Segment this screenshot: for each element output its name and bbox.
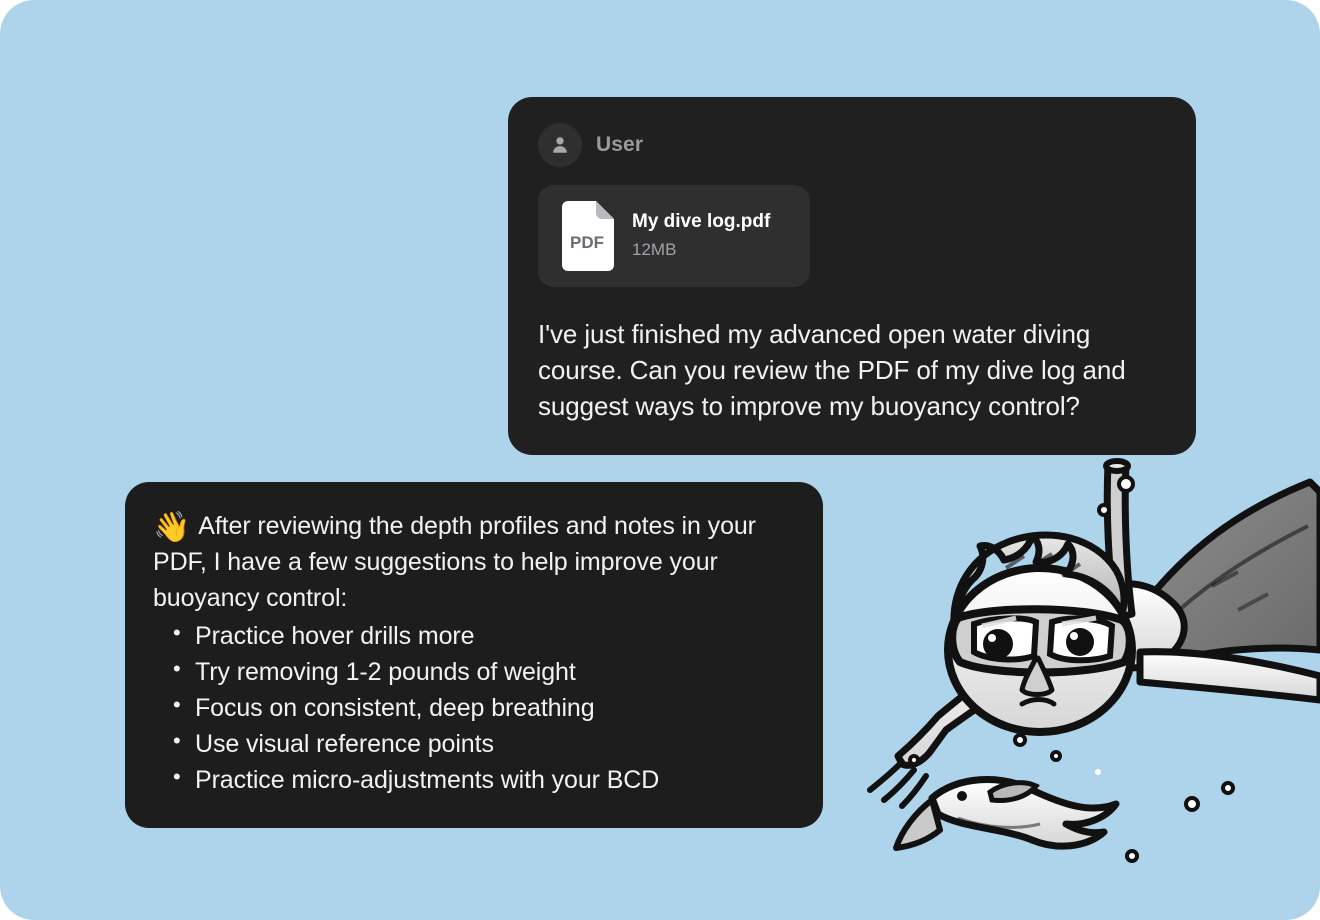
- attachment-file-size: 12MB: [632, 240, 770, 260]
- user-role-label: User: [596, 133, 643, 157]
- air-bubbles: [910, 411, 1233, 861]
- person-icon: [549, 134, 571, 156]
- avatar: [538, 123, 582, 167]
- fish: [896, 780, 1116, 848]
- waving-hand-emoji: 👋: [153, 511, 190, 544]
- pdf-file-icon: PDF: [558, 201, 614, 271]
- list-item: Practice hover drills more: [195, 618, 793, 654]
- snorkeler-underwater-illustration: [840, 400, 1320, 920]
- assistant-intro-text: After reviewing the depth profiles and n…: [153, 512, 756, 612]
- list-item: Try removing 1-2 pounds of weight: [195, 654, 793, 690]
- assistant-message-bubble: 👋After reviewing the depth profiles and …: [125, 482, 823, 828]
- list-item: Practice micro-adjustments with your BCD: [195, 762, 793, 798]
- attachment-details: My dive log.pdf 12MB: [632, 211, 770, 260]
- list-item: Focus on consistent, deep breathing: [195, 690, 793, 726]
- user-message-bubble: User PDF My dive log.pdf 12MB I've just …: [508, 97, 1196, 455]
- assistant-intro-block: 👋After reviewing the depth profiles and …: [153, 508, 793, 616]
- attachment-file-name: My dive log.pdf: [632, 211, 770, 234]
- file-attachment-card[interactable]: PDF My dive log.pdf 12MB: [538, 185, 810, 287]
- user-message-text: I've just finished my advanced open wate…: [538, 317, 1166, 425]
- user-message-header: User: [538, 123, 1166, 167]
- assistant-suggestion-list: Practice hover drills more Try removing …: [153, 618, 793, 798]
- list-item: Use visual reference points: [195, 726, 793, 762]
- swimmer-figure: [870, 461, 1320, 806]
- pdf-icon-label: PDF: [570, 233, 604, 252]
- screenshot-canvas: User PDF My dive log.pdf 12MB I've just …: [0, 0, 1320, 920]
